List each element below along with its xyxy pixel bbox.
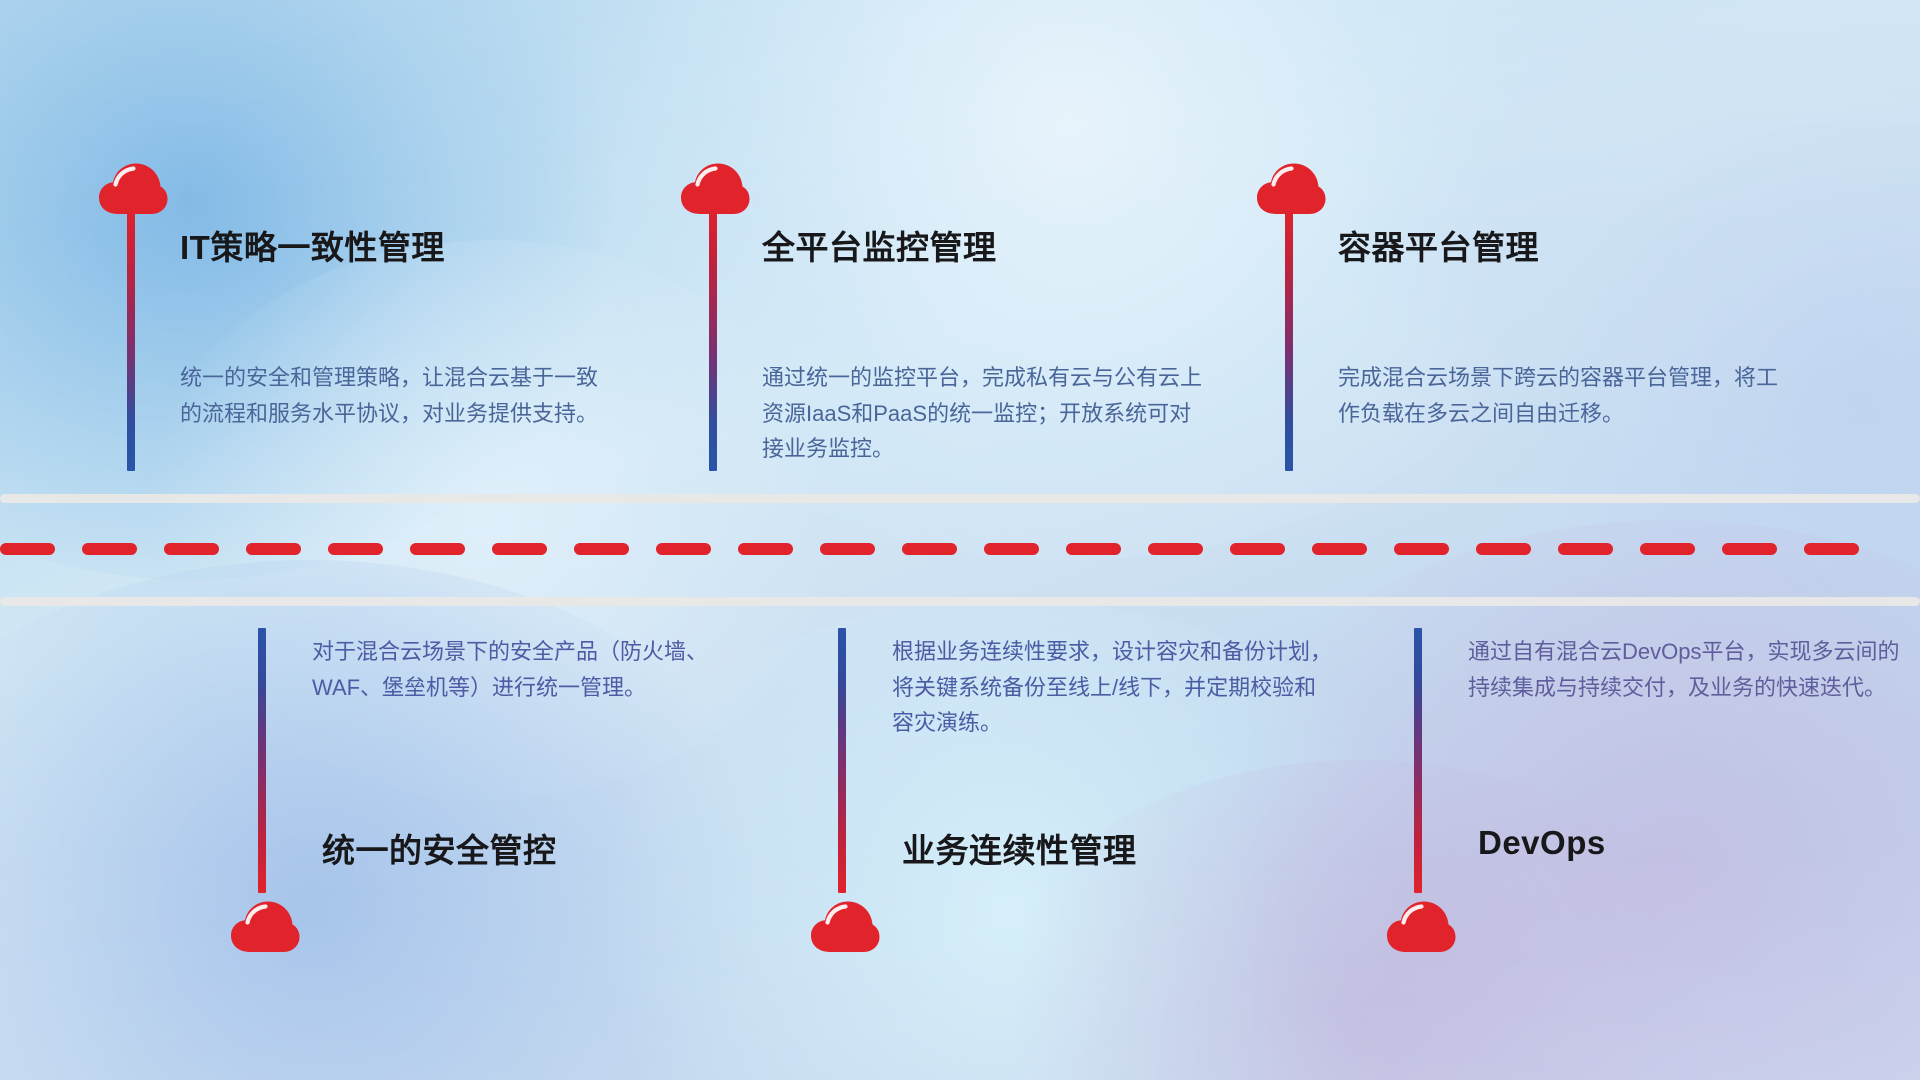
bottom-item-body: 根据业务连续性要求，设计容灾和备份计划，将关键系统备份至线上/线下，并定期校验和… [892,634,1332,741]
divider-dash [328,543,383,555]
divider-dash [1804,543,1859,555]
bottom-item-heading: 统一的安全管控 [322,824,557,872]
top-item-heading: 全平台监控管理 [762,221,997,269]
top-item-heading: 容器平台管理 [1338,221,1539,269]
divider-dash [984,543,1039,555]
divider-dash [492,543,547,555]
divider-dash [0,543,55,555]
connector-line [1414,628,1422,893]
bottom-item-body: 对于混合云场景下的安全产品（防火墙、WAF、堡垒机等）进行统一管理。 [312,634,732,705]
connector-line [709,206,717,471]
divider-dash [1230,543,1285,555]
divider-dash [656,543,711,555]
connector-line [838,628,846,893]
top-item-body: 统一的安全和管理策略，让混合云基于一致的流程和服务水平协议，对业务提供支持。 [180,360,610,431]
connector-line [1285,206,1293,471]
divider-dashed-line [0,543,1920,555]
bottom-item-heading: 业务连续性管理 [902,824,1137,872]
divider-dash [1558,543,1613,555]
divider-dash [1148,543,1203,555]
divider-dash [82,543,137,555]
divider-rule-bottom [0,597,1920,606]
divider-dash [164,543,219,555]
divider-rule-top [0,494,1920,503]
divider-dash [1640,543,1695,555]
divider-dash [902,543,957,555]
divider-dash [1312,543,1367,555]
divider-dash [820,543,875,555]
cloud-icon [228,898,300,954]
divider-dash [1722,543,1777,555]
bottom-item-heading: DevOps [1478,824,1606,862]
infographic-canvas: IT策略一致性管理 统一的安全和管理策略，让混合云基于一致的流程和服务水平协议，… [0,0,1920,1080]
divider-dash [574,543,629,555]
divider-dash [1476,543,1531,555]
divider-dash [410,543,465,555]
divider-dash [738,543,793,555]
cloud-icon [808,898,880,954]
divider-dash [1394,543,1449,555]
connector-line [127,206,135,471]
top-item-body: 完成混合云场景下跨云的容器平台管理，将工作负载在多云之间自由迁移。 [1338,360,1778,431]
top-item-heading: IT策略一致性管理 [180,221,445,269]
bottom-item-body: 通过自有混合云DevOps平台，实现多云间的持续集成与持续交付，及业务的快速迭代… [1468,634,1908,705]
connector-line [258,628,266,893]
divider-dash [1066,543,1121,555]
top-item-body: 通过统一的监控平台，完成私有云与公有云上资源IaaS和PaaS的统一监控；开放系… [762,360,1202,467]
cloud-icon [1384,898,1456,954]
divider-dash [246,543,301,555]
